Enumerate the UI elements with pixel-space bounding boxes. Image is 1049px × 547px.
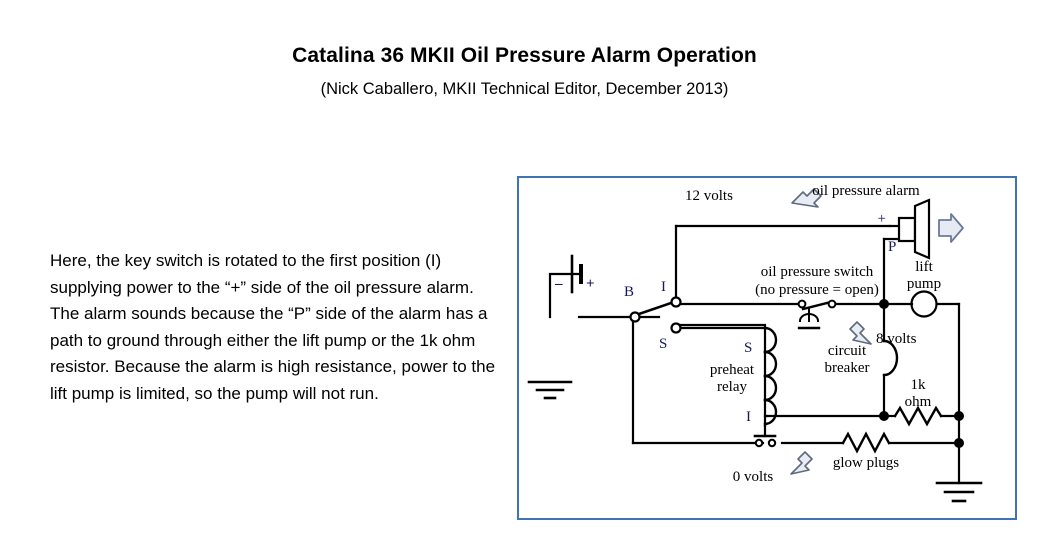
relay-coil-arc-1 <box>765 328 776 352</box>
label-oil-pressure-switch-line1: oil pressure switch <box>761 264 874 280</box>
lift-pump-symbol <box>912 292 937 317</box>
label-oil-pressure-switch-line2: (no pressure = open) <box>755 282 879 298</box>
label-0-volts: 0 volts <box>733 469 774 485</box>
relay-coil-arc-2 <box>765 352 776 376</box>
resistor-1k-zigzag <box>895 408 941 424</box>
label-lift-pump-line1: lift <box>915 259 933 275</box>
label-circuit-breaker-line1: circuit <box>828 343 867 359</box>
terminal-alarm-p: P <box>888 239 896 255</box>
glow-plugs-zigzag <box>843 434 889 451</box>
key-switch-i-terminal <box>672 298 681 307</box>
label-8-volts: 8 volts <box>876 331 917 347</box>
alarm-body <box>899 218 915 241</box>
relay-contact-right <box>769 440 775 446</box>
label-1k-ohm-line1: 1k <box>911 377 927 393</box>
alarm-horn <box>915 200 929 258</box>
circuit-schematic: 12 volts oil pressure alarm oil pressure… <box>519 178 1015 518</box>
relay-contact-left <box>756 440 762 446</box>
page-subtitle: (Nick Caballero, MKII Technical Editor, … <box>0 80 1049 99</box>
oil-switch-left-contact <box>799 301 806 308</box>
circuit-diagram-panel: 12 volts oil pressure alarm oil pressure… <box>517 176 1017 520</box>
arrow-0-volts-icon <box>791 452 812 474</box>
label-oil-pressure-alarm: oil pressure alarm <box>812 183 920 199</box>
page-root: Catalina 36 MKII Oil Pressure Alarm Oper… <box>0 0 1049 547</box>
wiring <box>529 226 981 501</box>
terminal-relay-s: S <box>744 340 752 356</box>
explanatory-paragraph: Here, the key switch is rotated to the f… <box>50 248 505 407</box>
callout-arrows <box>791 189 871 474</box>
arrow-8-volts-icon <box>850 322 871 344</box>
label-12-volts: 12 volts <box>685 188 733 204</box>
terminal-dots <box>631 298 965 449</box>
key-switch-s-terminal <box>672 324 681 333</box>
terminal-relay-i: I <box>746 409 751 425</box>
label-1k-ohm-line2: ohm <box>905 394 932 410</box>
sound-arrow-icon <box>939 214 963 242</box>
terminal-key-switch-s: S <box>659 336 667 352</box>
label-circuit-breaker-line2: breaker <box>825 360 870 376</box>
oil-pressure-switch-blade <box>803 302 831 309</box>
junction-right-1k <box>954 411 964 421</box>
junction-p-node <box>879 299 889 309</box>
key-switch-blade <box>639 302 674 314</box>
label-lift-pump-line2: pump <box>907 276 941 292</box>
terminal-key-switch-b: B <box>624 284 634 300</box>
label-glow-plugs: glow plugs <box>833 455 899 471</box>
terminal-battery-positive: + <box>586 276 595 292</box>
label-preheat-relay-line2: relay <box>717 379 747 395</box>
oil-pressure-alarm-symbol <box>899 200 963 258</box>
terminal-key-switch-i: I <box>661 279 666 295</box>
terminal-alarm-plus: + <box>878 211 886 227</box>
relay-coil-arc-4 <box>765 400 776 424</box>
key-switch-b-terminal <box>631 313 640 322</box>
oil-switch-right-contact <box>829 301 836 308</box>
label-preheat-relay-line1: preheat <box>710 362 755 378</box>
junction-right-glow <box>954 438 964 448</box>
relay-coil-arc-3 <box>765 376 776 400</box>
junction-1k-node <box>879 411 889 421</box>
page-title: Catalina 36 MKII Oil Pressure Alarm Oper… <box>0 44 1049 68</box>
terminal-battery-negative: – <box>554 276 563 292</box>
